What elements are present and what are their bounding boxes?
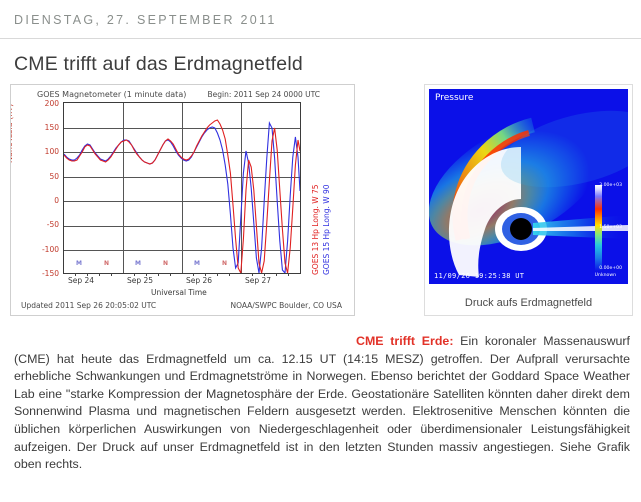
chart-y-axis-title: NanoTesla (nT) (10, 104, 14, 163)
x-minor-3 (99, 273, 100, 276)
y-tick-m100: -100 (19, 245, 59, 254)
legend-goes13: GOES 13 Hp Long. W 75 (311, 184, 320, 275)
x-tick-sep27: Sep 27 (245, 276, 271, 285)
goes-magnetometer-chart[interactable]: GOES Magnetometer (1 minute data) Begin:… (10, 84, 355, 316)
chart-title: GOES Magnetometer (1 minute data) (37, 90, 186, 99)
x-minor-15 (276, 273, 277, 276)
colorbar-min-label: 0.00e+00 (599, 266, 622, 271)
marker-n-2: N (163, 260, 168, 267)
chart-x-axis-title: Universal Time (151, 288, 207, 297)
y-tick-200: 200 (19, 99, 59, 108)
pressure-simulation-image[interactable]: Pressure 3.00e+03 1.50e+03 0.00e+00 Unkn… (429, 89, 628, 284)
colorbar-mid-label: 1.50e+03 (599, 225, 622, 230)
x-tick-sep24: Sep 24 (68, 276, 94, 285)
y-tick-0: 0 (19, 196, 59, 205)
marker-m-1: M (76, 260, 82, 267)
colorbar-max-label: 3.00e+03 (599, 183, 622, 188)
marker-m-3: M (194, 260, 200, 267)
media-row: GOES Magnetometer (1 minute data) Begin:… (0, 76, 641, 308)
y-tick-m50: -50 (19, 220, 59, 229)
article-lead-in: CME trifft Erde: (356, 334, 453, 348)
marker-m-2: M (135, 260, 141, 267)
chart-plot-area: M N M N M N (63, 102, 301, 274)
x-minor-4 (111, 273, 112, 276)
chart-credit-label: NOAA/SWPC Boulder, CO USA (230, 301, 342, 310)
y-tick-m150: -150 (19, 269, 59, 278)
pressure-label: Pressure (435, 93, 473, 103)
magnetosphere-pressure-panel[interactable]: Pressure 3.00e+03 1.50e+03 0.00e+00 Unkn… (424, 84, 633, 316)
x-tick-sep26: Sep 26 (186, 276, 212, 285)
marker-n-3: N (222, 260, 227, 267)
colorbar-unit-label: Unknown (595, 273, 616, 278)
chart-traces (64, 103, 300, 273)
chart-updated-label: Updated 2011 Sep 26 20:05:02 UTC (21, 301, 156, 310)
page-title: CME trifft auf das Erdmagnetfeld (0, 39, 641, 76)
x-minor-8 (170, 273, 171, 276)
simulation-caption: Druck aufs Erdmagnetfeld (425, 297, 632, 309)
y-tick-100: 100 (19, 147, 59, 156)
article-text: Ein koronaler Massenauswurf (CME) hat he… (14, 334, 630, 471)
x-minor-12 (229, 273, 230, 276)
x-minor-11 (217, 273, 218, 276)
y-tick-150: 150 (19, 123, 59, 132)
post-date: DIENSTAG, 27. SEPTEMBER 2011 (0, 0, 641, 27)
chart-begin-label: Begin: 2011 Sep 24 0000 UTC (207, 90, 320, 99)
simulation-timestamp: 11/09/26 19:25:38 UT (434, 272, 524, 280)
y-tick-50: 50 (19, 172, 59, 181)
article-body: CME trifft Erde: Ein koronaler Massenaus… (14, 333, 630, 474)
x-minor-16 (288, 273, 289, 276)
x-minor-7 (158, 273, 159, 276)
marker-n-1: N (104, 260, 109, 267)
legend-goes15: GOES 15 Hp Long. W 90 (322, 184, 331, 275)
x-tick-sep25: Sep 25 (127, 276, 153, 285)
text-wrap-spacer (14, 333, 356, 350)
